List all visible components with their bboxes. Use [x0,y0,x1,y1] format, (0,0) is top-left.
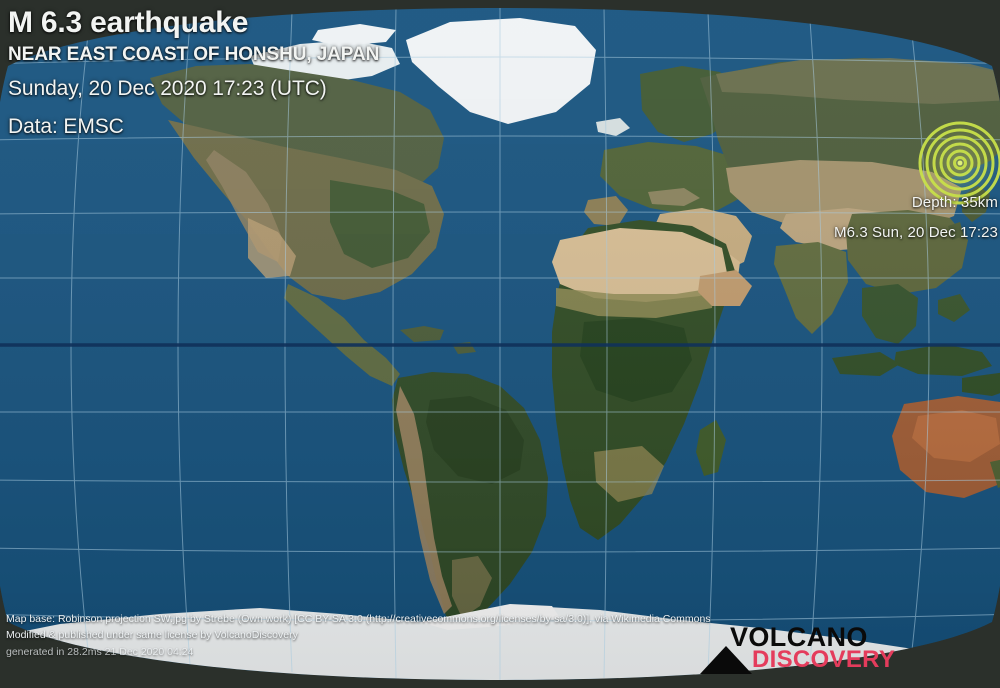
earthquake-map-screenshot: M 6.3 earthquake NEAR EAST COAST OF HONS… [0,0,1000,688]
world-map-svg[interactable] [0,0,1000,688]
world-map[interactable] [0,0,1000,688]
globe-contents [0,0,1000,688]
